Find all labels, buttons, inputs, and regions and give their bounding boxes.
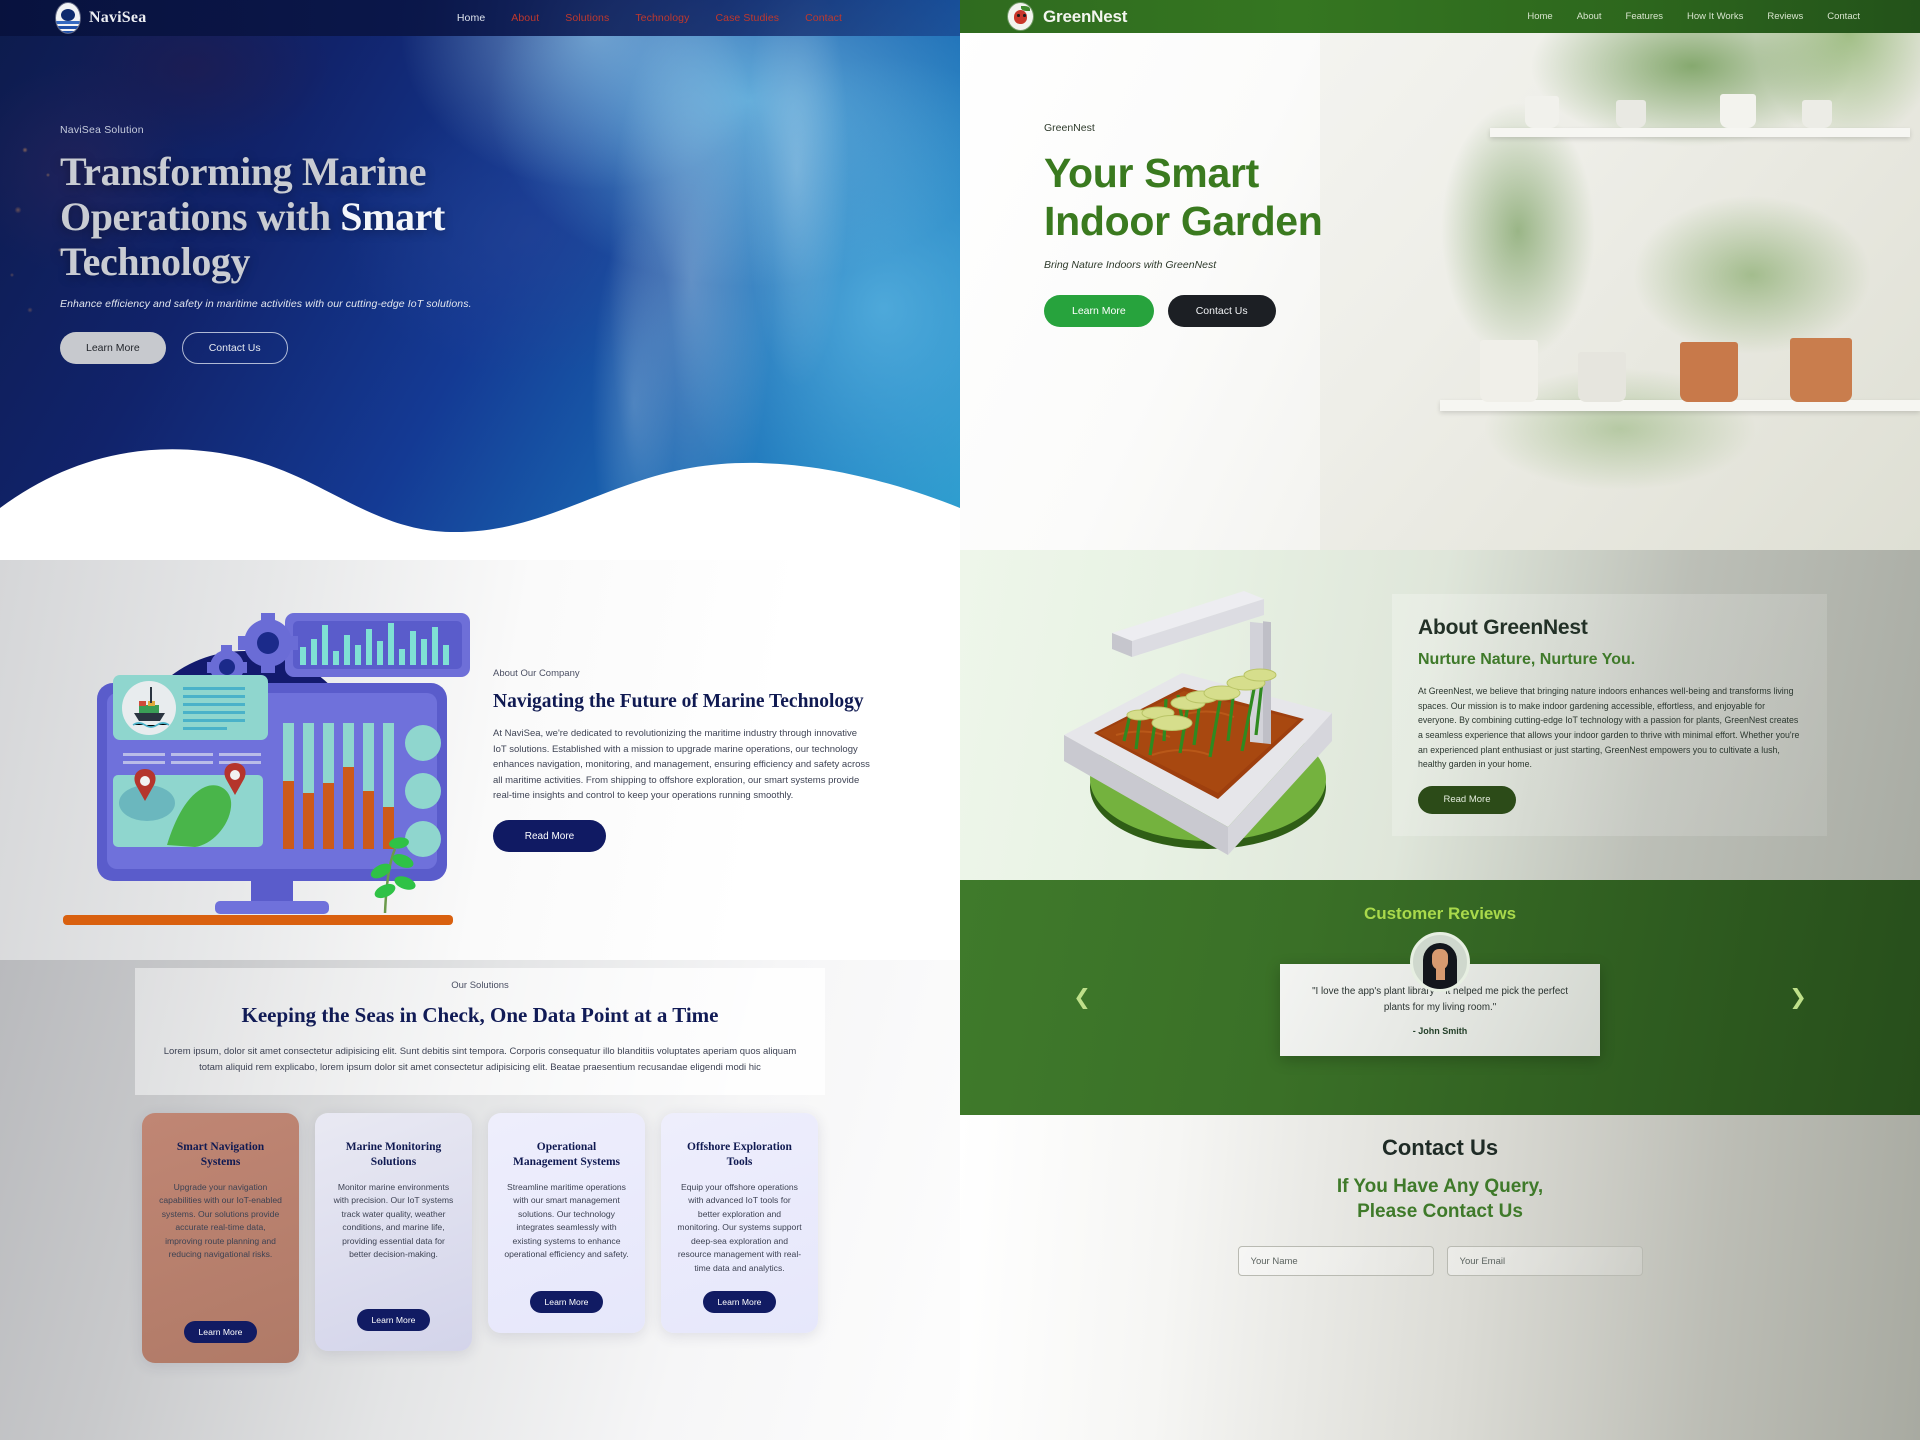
- hero-learn-more-button[interactable]: Learn More: [60, 332, 166, 364]
- contact-form: [960, 1246, 1920, 1276]
- solution-card-learn-more-button[interactable]: Learn More: [357, 1309, 431, 1331]
- solutions-header: Our Solutions Keeping the Seas in Check,…: [135, 968, 825, 1095]
- hero-title-line2: Indoor Garden: [1044, 198, 1323, 244]
- review-author: - John Smith: [1304, 1026, 1576, 1036]
- solution-card-learn-more-button[interactable]: Learn More: [703, 1291, 777, 1313]
- navisea-navbar: NaviSea Home About Solutions Technology …: [0, 0, 960, 36]
- about-body: At NaviSea, we're dedicated to revolutio…: [493, 726, 873, 803]
- hero-title-line2a: Operations with: [60, 194, 340, 239]
- greennest-brand[interactable]: GreenNest: [1008, 3, 1127, 30]
- greennest-brand-label: GreenNest: [1043, 7, 1127, 27]
- hero-title-line1: Transforming Marine: [60, 149, 426, 194]
- hero-button-group: Learn More Contact Us: [1044, 295, 1464, 327]
- nav-item-home[interactable]: Home: [1527, 11, 1552, 22]
- navisea-website: NaviSea Home About Solutions Technology …: [0, 0, 960, 1440]
- wave-divider: [0, 412, 960, 560]
- chevron-left-icon[interactable]: ❮: [1068, 983, 1096, 1011]
- greennest-contact-section: Contact Us If You Have Any Query, Please…: [960, 1115, 1920, 1440]
- hero-title-line2b: Smart: [340, 194, 445, 239]
- hero-button-group: Learn More Contact Us: [60, 332, 620, 364]
- plant-pot: [1525, 96, 1559, 128]
- greennest-about-card: About GreenNest Nurture Nature, Nurture …: [1392, 594, 1827, 836]
- greennest-hero-content: GreenNest Your Smart Indoor Garden Bring…: [1044, 122, 1464, 327]
- hero-contact-us-button[interactable]: Contact Us: [1168, 295, 1276, 327]
- plant-pot: [1790, 338, 1852, 402]
- plant-pot: [1720, 94, 1756, 128]
- navisea-hero-content: NaviSea Solution Transforming Marine Ope…: [60, 124, 620, 364]
- navisea-nav-menu: Home About Solutions Technology Case Stu…: [457, 12, 842, 24]
- nav-item-reviews[interactable]: Reviews: [1767, 11, 1803, 22]
- solution-card-title: Operational Management Systems: [504, 1140, 629, 1170]
- chevron-right-icon[interactable]: ❯: [1784, 983, 1812, 1011]
- greennest-reviews-section: Customer Reviews ❮ "I love the app's pla…: [960, 880, 1920, 1115]
- contact-subheading-line2: Please Contact Us: [1357, 1201, 1523, 1222]
- solution-card[interactable]: Smart Navigation Systems Upgrade your na…: [142, 1113, 299, 1363]
- solution-card[interactable]: Offshore Exploration Tools Equip your of…: [661, 1113, 818, 1333]
- about-read-more-button[interactable]: Read More: [1418, 786, 1516, 814]
- navisea-hero: NaviSea Home About Solutions Technology …: [0, 0, 960, 560]
- solution-card-learn-more-button[interactable]: Learn More: [530, 1291, 604, 1313]
- plant-pot: [1578, 352, 1626, 402]
- solution-card[interactable]: Marine Monitoring Solutions Monitor mari…: [315, 1113, 472, 1351]
- about-heading: About GreenNest: [1418, 616, 1801, 640]
- about-read-more-button[interactable]: Read More: [493, 820, 606, 852]
- hero-contact-us-button[interactable]: Contact Us: [182, 332, 288, 364]
- solution-card-body: Streamline maritime operations with our …: [504, 1181, 629, 1262]
- greennest-navbar: GreenNest Home About Features How It Wor…: [960, 0, 1920, 33]
- nav-item-about[interactable]: About: [511, 12, 539, 24]
- contact-subheading: If You Have Any Query, Please Contact Us: [960, 1175, 1920, 1224]
- reviews-title: Customer Reviews: [960, 880, 1920, 924]
- solution-card-body: Monitor marine environments with precisi…: [331, 1181, 456, 1262]
- greennest-hero: GreenNest Home About Features How It Wor…: [960, 0, 1920, 550]
- solution-card-title: Smart Navigation Systems: [158, 1140, 283, 1170]
- navisea-about-text: About Our Company Navigating the Future …: [493, 668, 873, 853]
- solutions-body: Lorem ipsum, dolor sit amet consectetur …: [161, 1044, 799, 1077]
- nav-item-contact[interactable]: Contact: [805, 12, 842, 24]
- solution-card-title: Marine Monitoring Solutions: [331, 1140, 456, 1170]
- reviews-carousel: ❮ "I love the app's plant library – it h…: [960, 938, 1920, 1056]
- shelf-board: [1490, 128, 1910, 137]
- email-field[interactable]: [1447, 1246, 1643, 1276]
- hero-title-line3: Technology: [60, 239, 250, 284]
- solution-card-body: Equip your offshore operations with adva…: [677, 1181, 802, 1276]
- solution-card[interactable]: Operational Management Systems Streamlin…: [488, 1113, 645, 1333]
- navisea-brand[interactable]: NaviSea: [56, 3, 146, 33]
- solution-card-learn-more-button[interactable]: Learn More: [184, 1321, 258, 1343]
- plant-pot: [1680, 342, 1738, 402]
- nav-item-solutions[interactable]: Solutions: [565, 12, 609, 24]
- plant-face-icon: [1008, 3, 1033, 30]
- solution-card-body: Upgrade your navigation capabilities wit…: [158, 1181, 283, 1262]
- moon-wave-icon: [56, 3, 80, 33]
- nav-item-technology[interactable]: Technology: [635, 12, 689, 24]
- hero-subtitle: Bring Nature Indoors with GreenNest: [1044, 259, 1464, 271]
- nav-item-how-it-works[interactable]: How It Works: [1687, 11, 1743, 22]
- navisea-about-section: About Our Company Navigating the Future …: [0, 560, 960, 960]
- contact-heading: Contact Us: [960, 1135, 1920, 1161]
- greennest-nav-menu: Home About Features How It Works Reviews…: [1527, 11, 1860, 22]
- navisea-solutions-section: Our Solutions Keeping the Seas in Check,…: [0, 960, 960, 1440]
- solutions-heading: Keeping the Seas in Check, One Data Poin…: [161, 1003, 799, 1028]
- contact-subheading-line1: If You Have Any Query,: [1337, 1176, 1543, 1197]
- solutions-card-grid: Smart Navigation Systems Upgrade your na…: [0, 1113, 960, 1363]
- plant-pot: [1480, 340, 1538, 402]
- dual-website-comparison: NaviSea Home About Solutions Technology …: [0, 0, 1920, 1440]
- about-heading: Navigating the Future of Marine Technolo…: [493, 690, 873, 714]
- smart-planter-3d-render: [1032, 565, 1362, 865]
- about-kicker: About Our Company: [493, 668, 873, 679]
- greennest-website: GreenNest Home About Features How It Wor…: [960, 0, 1920, 1440]
- name-field[interactable]: [1238, 1246, 1434, 1276]
- nav-item-features[interactable]: Features: [1626, 11, 1664, 22]
- solution-card-title: Offshore Exploration Tools: [677, 1140, 802, 1170]
- about-body: At GreenNest, we believe that bringing n…: [1418, 684, 1801, 772]
- hero-subtitle: Enhance efficiency and safety in maritim…: [60, 298, 620, 310]
- hero-learn-more-button[interactable]: Learn More: [1044, 295, 1154, 327]
- greennest-about-section: About GreenNest Nurture Nature, Nurture …: [960, 550, 1920, 880]
- hero-title-line1: Your Smart: [1044, 150, 1259, 196]
- hero-eyebrow: NaviSea Solution: [60, 124, 620, 136]
- nav-item-case-studies[interactable]: Case Studies: [715, 12, 779, 24]
- plant-pot: [1616, 100, 1646, 128]
- hero-title: Your Smart Indoor Garden: [1044, 150, 1464, 246]
- user-avatar: [1410, 932, 1470, 992]
- marine-dashboard-illustration: [55, 595, 475, 925]
- navisea-brand-label: NaviSea: [89, 9, 146, 27]
- nav-item-about[interactable]: About: [1577, 11, 1602, 22]
- nav-item-contact[interactable]: Contact: [1827, 11, 1860, 22]
- about-subheading: Nurture Nature, Nurture You.: [1418, 651, 1801, 669]
- plant-pot: [1802, 100, 1832, 128]
- hero-title: Transforming Marine Operations with Smar…: [60, 150, 620, 284]
- nav-item-home[interactable]: Home: [457, 12, 485, 24]
- solutions-kicker: Our Solutions: [161, 980, 799, 991]
- hero-eyebrow: GreenNest: [1044, 122, 1464, 134]
